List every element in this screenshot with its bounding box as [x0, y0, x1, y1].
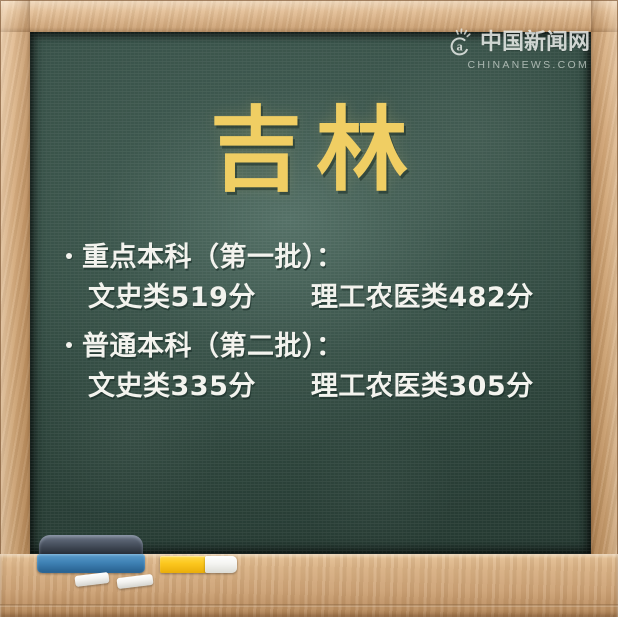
scores-first-batch: 文史类519分 理工农医类482分	[88, 280, 586, 316]
chalk-stick-white	[205, 556, 237, 573]
watermark: a 中国新闻网 CHINANEWS.COM	[446, 28, 590, 71]
eraser-base	[37, 554, 145, 573]
page-title: 吉林	[0, 105, 618, 197]
section-first-batch: 重点本科（第一批）： 文史类519分 理工农医类482分	[66, 240, 586, 315]
score-content: 重点本科（第一批）： 文史类519分 理工农医类482分 普通本科（第二批）： …	[66, 240, 586, 419]
watermark-row: a 中国新闻网	[446, 28, 590, 58]
watermark-en-text: CHINANEWS.COM	[468, 59, 589, 71]
blackboard-eraser	[37, 535, 145, 573]
heading-text: 重点本科（第一批）：	[82, 240, 344, 276]
section-heading-second-batch: 普通本科（第二批）：	[66, 329, 586, 365]
heading-text: 普通本科（第二批）：	[82, 329, 344, 365]
bullet-dot-icon	[66, 253, 72, 259]
bullet-dot-icon	[66, 342, 72, 348]
section-heading-first-batch: 重点本科（第一批）：	[66, 240, 586, 276]
scores-second-batch: 文史类335分 理工农医类305分	[88, 369, 586, 405]
ledge-lip	[0, 604, 618, 607]
at-sign-sparkle-icon: a	[446, 28, 476, 58]
chalk-stick-yellow	[160, 556, 208, 573]
section-second-batch: 普通本科（第二批）： 文史类335分 理工农医类305分	[66, 329, 586, 404]
svg-text:a: a	[456, 39, 463, 53]
chalkboard-infographic: a 中国新闻网 CHINANEWS.COM 吉林 重点本科（第一批）： 文史类5…	[0, 0, 618, 617]
watermark-cn-text: 中国新闻网	[480, 32, 590, 54]
